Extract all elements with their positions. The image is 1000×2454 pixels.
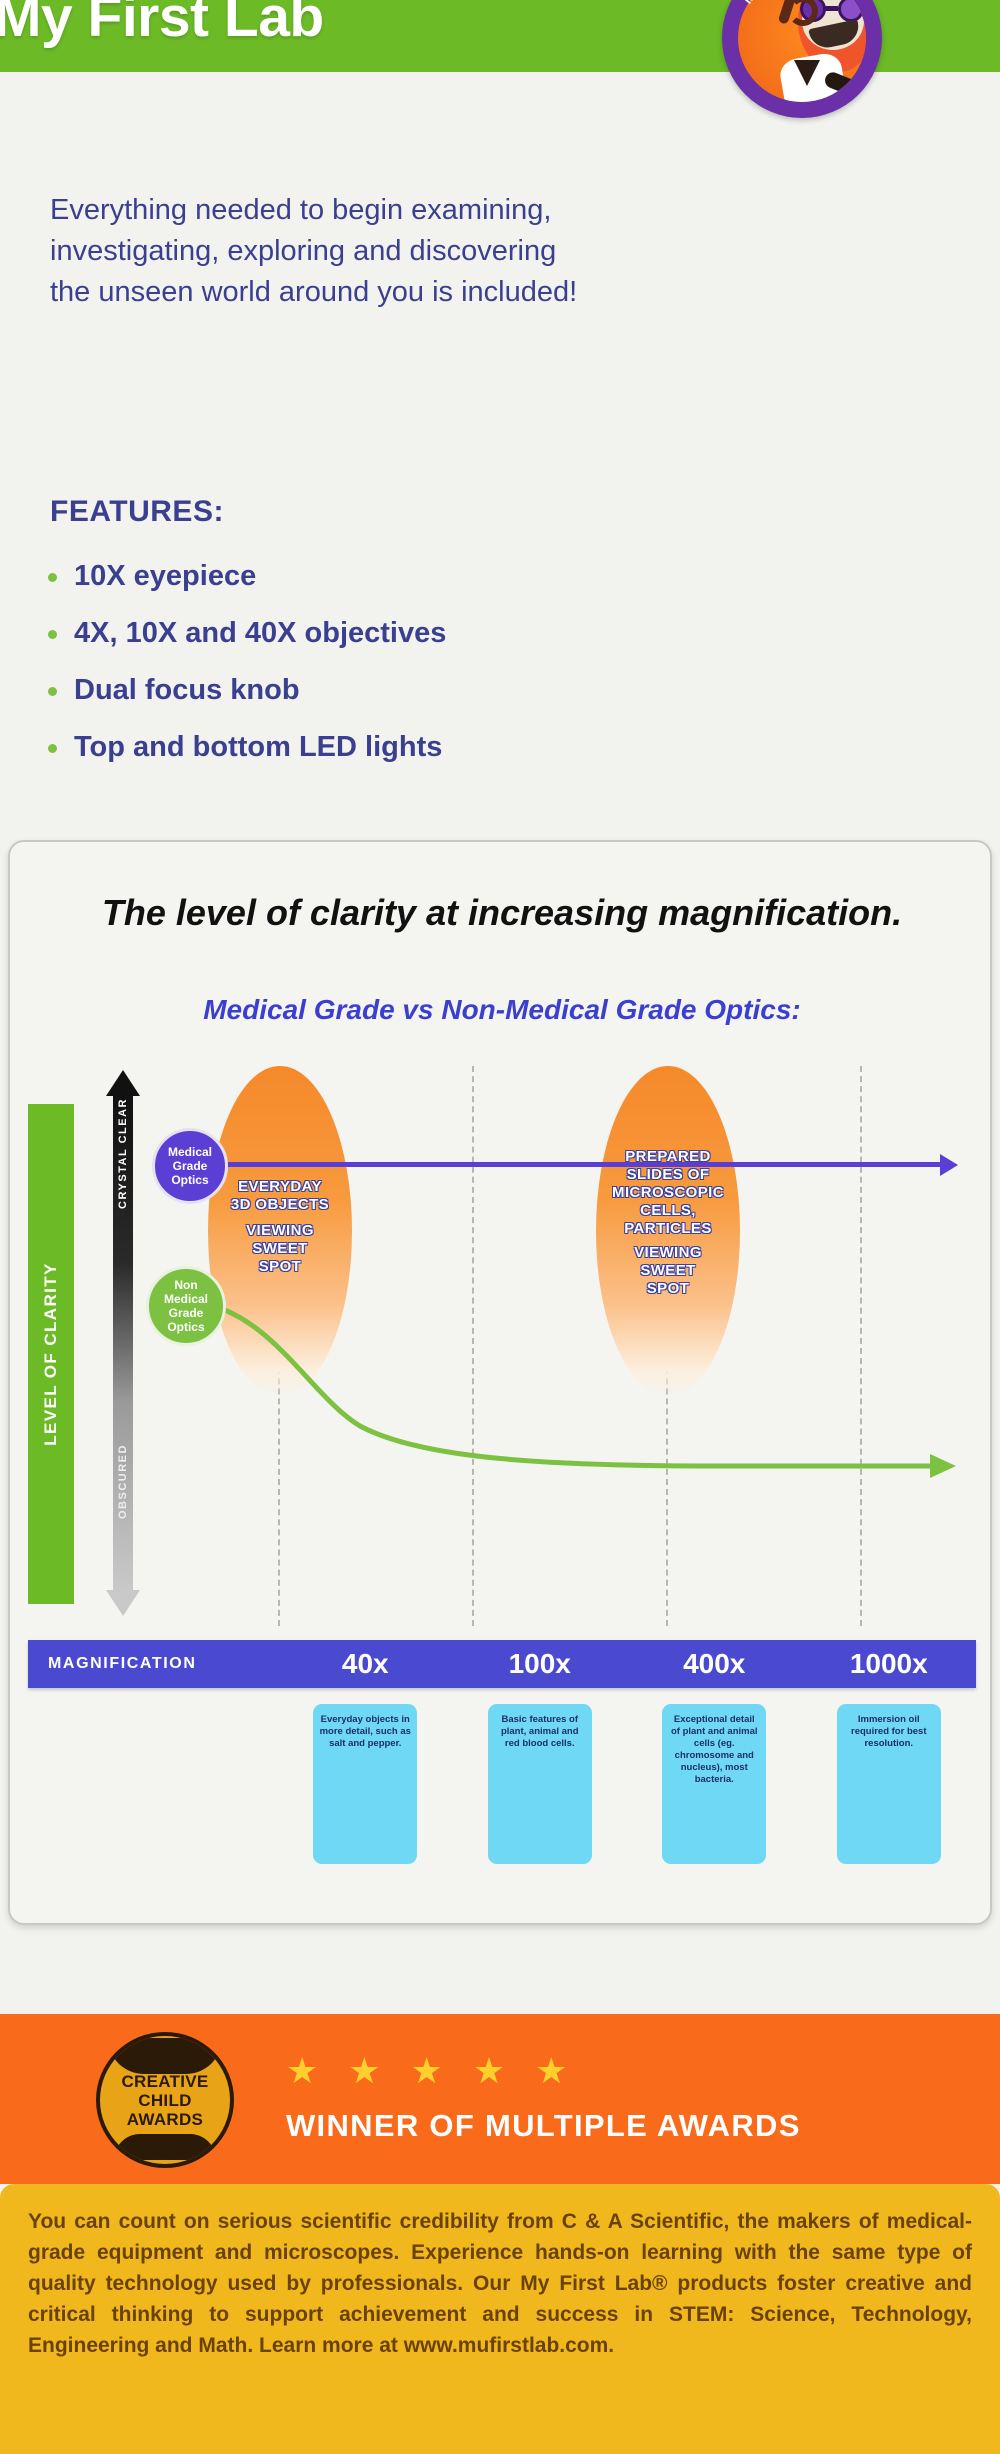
legend-badge-non-medical-grade: Non Medical Grade Optics (146, 1266, 226, 1346)
bullet-icon (48, 573, 57, 582)
winner-text: WINNER OF MULTIPLE AWARDS (286, 2108, 801, 2144)
legend-badge-medical-grade: Medical Grade Optics (152, 1128, 228, 1204)
star-rating-icon: ★ ★ ★ ★ ★ (286, 2050, 577, 2092)
features-list: 10X eyepiece 4X, 10X and 40X objectives … (48, 548, 648, 776)
seal-bottom-arc (114, 2134, 216, 2160)
x-tick-1000x: 1000x (802, 1648, 977, 1680)
x-tick-400x: 400x (627, 1648, 802, 1680)
features-heading: FEATURES: (50, 495, 224, 529)
feature-label: 4X, 10X and 40X objectives (74, 617, 446, 649)
y-axis-label: LEVEL OF CLARITY (41, 1262, 61, 1446)
x-tick-40x: 40x (278, 1648, 453, 1680)
desc-cell-100x: Basic features of plant, animal and red … (453, 1704, 628, 1864)
bullet-icon (48, 687, 57, 696)
chart-subtitle: Medical Grade vs Non-Medical Grade Optic… (10, 994, 992, 1026)
creative-child-awards-seal-icon: CREATIVE CHILD AWARDS (96, 2032, 234, 2168)
desc-cell-400x: Exceptional detail of plant and animal c… (627, 1704, 802, 1864)
y-axis-label-bar: LEVEL OF CLARITY (28, 1104, 74, 1604)
list-item: Top and bottom LED lights (48, 719, 648, 776)
page-title: My First Lab (0, 0, 324, 50)
feature-label: Dual focus knob (74, 674, 300, 706)
arrow-down-icon (106, 1590, 140, 1616)
bullet-icon (48, 630, 57, 639)
chart-plot-area: EVERYDAY 3D OBJECTS VIEWING SWEET SPOT P… (160, 1066, 976, 1626)
tick-descriptions-row: Everyday objects in more detail, such as… (278, 1704, 976, 1864)
intro-paragraph: Everything needed to begin examining, in… (50, 190, 590, 313)
magnification-axis-row: MAGNIFICATION 40x 100x 400x 1000x (28, 1640, 976, 1688)
desc-box-1000x: Immersion oil required for best resoluti… (837, 1704, 941, 1864)
bullet-icon (48, 744, 57, 753)
chart-title: The level of clarity at increasing magni… (10, 890, 992, 935)
obscured-label: OBSCURED (117, 1493, 129, 1519)
desc-box-40x: Everyday objects in more detail, such as… (313, 1704, 417, 1864)
clarity-chart-card: The level of clarity at increasing magni… (8, 840, 992, 1925)
crystal-clear-label: CRYSTAL CLEAR (117, 1183, 129, 1209)
series-line-non-medical-grade (160, 1066, 976, 1626)
my-first-lab-logo: My First Lab (722, 0, 882, 118)
list-item: 4X, 10X and 40X objectives (48, 605, 648, 662)
x-tick-100x: 100x (453, 1648, 628, 1680)
svg-text:My First Lab: My First Lab (740, 0, 832, 6)
desc-box-100x: Basic features of plant, animal and red … (488, 1704, 592, 1864)
list-item: Dual focus knob (48, 662, 648, 719)
desc-cell-1000x: Immersion oil required for best resoluti… (802, 1704, 977, 1864)
clarity-gradient-arrow: CRYSTAL CLEAR OBSCURED (106, 1070, 140, 1616)
seal-text: CREATIVE CHILD AWARDS (121, 2072, 208, 2129)
feature-label: Top and bottom LED lights (74, 731, 442, 763)
list-item: 10X eyepiece (48, 548, 648, 605)
seal-top-arc (108, 2038, 222, 2074)
desc-cell-40x: Everyday objects in more detail, such as… (278, 1704, 453, 1864)
arrow-up-icon (106, 1070, 140, 1096)
x-axis-label: MAGNIFICATION (28, 1655, 278, 1673)
logo-ring-text: My First Lab (722, 0, 882, 118)
desc-box-400x: Exceptional detail of plant and animal c… (662, 1704, 766, 1864)
awards-band: CREATIVE CHILD AWARDS ★ ★ ★ ★ ★ WINNER O… (0, 2014, 1000, 2184)
footer-panel: You can count on serious scientific cred… (0, 2184, 1000, 2454)
footer-paragraph: You can count on serious scientific cred… (28, 2206, 972, 2361)
feature-label: 10X eyepiece (74, 560, 256, 592)
